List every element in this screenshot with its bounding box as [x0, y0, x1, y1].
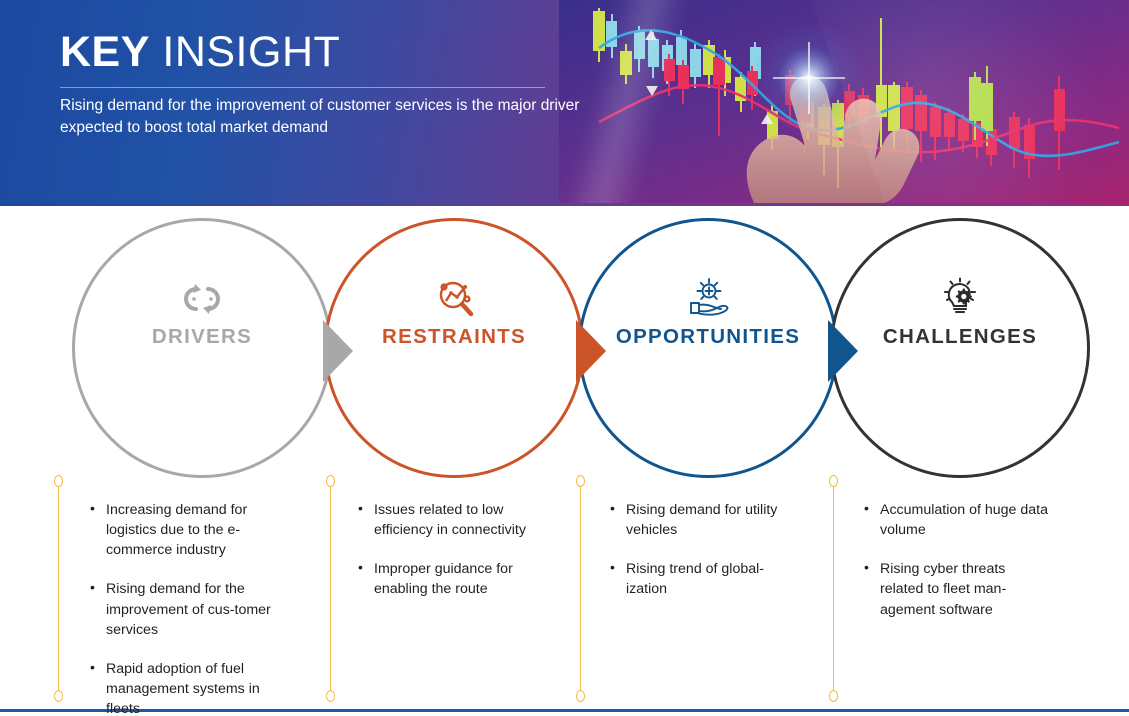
cycle-arrows-icon	[175, 277, 229, 321]
list-item: Issues related to low efficiency in conn…	[356, 500, 556, 540]
rail-cap-top	[326, 475, 335, 487]
list-item: Rising demand for utility vehicles	[608, 500, 804, 540]
header-banner: KEY INSIGHT Rising demand for the improv…	[0, 0, 1129, 205]
list-item: Rising demand for the improvement of cus…	[88, 579, 288, 639]
magnifier-analytics-icon	[427, 277, 481, 321]
bullets-challenges: Accumulation of huge data volume Rising …	[862, 500, 1052, 639]
list-item: Rising cyber threats related to fleet ma…	[862, 559, 1052, 619]
rail-cap-bottom	[576, 690, 585, 702]
rail-cap-top	[54, 475, 63, 487]
bullet-list-drivers: Increasing demand for logistics due to t…	[88, 500, 288, 716]
rail-cap-top	[829, 475, 838, 487]
node-restraints[interactable]: RESTRAINTS	[324, 205, 586, 469]
rail-cap-bottom	[829, 690, 838, 702]
title-divider	[60, 87, 545, 88]
list-item: Rapid adoption of fuel management system…	[88, 659, 288, 716]
chevron-connector-drivers-to-restraints	[323, 320, 353, 382]
chevron-connector-restraints-to-opportunities	[576, 320, 606, 382]
header-stock-chart-image	[559, 0, 1129, 205]
hand-holding-sun-icon	[681, 277, 735, 321]
node-drivers[interactable]: DRIVERS	[72, 205, 334, 469]
list-item: Accumulation of huge data volume	[862, 500, 1052, 540]
rail-cap-top	[576, 475, 585, 487]
page-title-light: INSIGHT	[162, 28, 340, 76]
bullet-list-restraints: Issues related to low efficiency in conn…	[356, 500, 556, 600]
node-challenges[interactable]: CHALLENGES	[830, 205, 1092, 469]
rail-restraints-left	[330, 481, 331, 696]
node-label-drivers: DRIVERS	[72, 325, 332, 349]
bullets-opportunities: Rising demand for utility vehicles Risin…	[608, 500, 804, 619]
page-title: KEY INSIGHT	[60, 28, 340, 77]
node-label-wrap-opportunities: OPPORTUNITIES	[578, 277, 838, 349]
node-label-challenges: CHALLENGES	[830, 325, 1090, 349]
header-subtitle: Rising demand for the improvement of cus…	[60, 95, 580, 140]
rail-cap-bottom	[326, 690, 335, 702]
list-item: Increasing demand for logistics due to t…	[88, 500, 288, 560]
bullet-list-challenges: Accumulation of huge data volume Rising …	[862, 500, 1052, 620]
bullets-restraints: Issues related to low efficiency in conn…	[356, 500, 556, 619]
chevron-connector-opportunities-to-challenges	[828, 320, 858, 382]
list-item: Rising trend of global-ization	[608, 559, 804, 599]
node-label-wrap-challenges: CHALLENGES	[830, 277, 1090, 349]
rail-challenges-left	[833, 481, 834, 696]
rail-drivers-left	[58, 481, 59, 696]
bullets-drivers: Increasing demand for logistics due to t…	[88, 500, 288, 716]
node-label-wrap-restraints: RESTRAINTS	[324, 277, 584, 349]
bullet-list-opportunities: Rising demand for utility vehicles Risin…	[608, 500, 804, 600]
node-label-wrap-drivers: DRIVERS	[72, 277, 332, 349]
lightbulb-gear-icon	[933, 277, 987, 321]
rail-cap-bottom	[54, 690, 63, 702]
rail-opportunities-left	[580, 481, 581, 696]
node-label-restraints: RESTRAINTS	[324, 325, 584, 349]
node-opportunities[interactable]: OPPORTUNITIES	[578, 205, 840, 469]
page-title-bold: KEY	[60, 28, 150, 76]
node-label-opportunities: OPPORTUNITIES	[578, 325, 838, 349]
key-insight-infographic: KEY INSIGHT Rising demand for the improv…	[0, 0, 1129, 716]
list-item: Improper guidance for enabling the route	[356, 559, 556, 599]
